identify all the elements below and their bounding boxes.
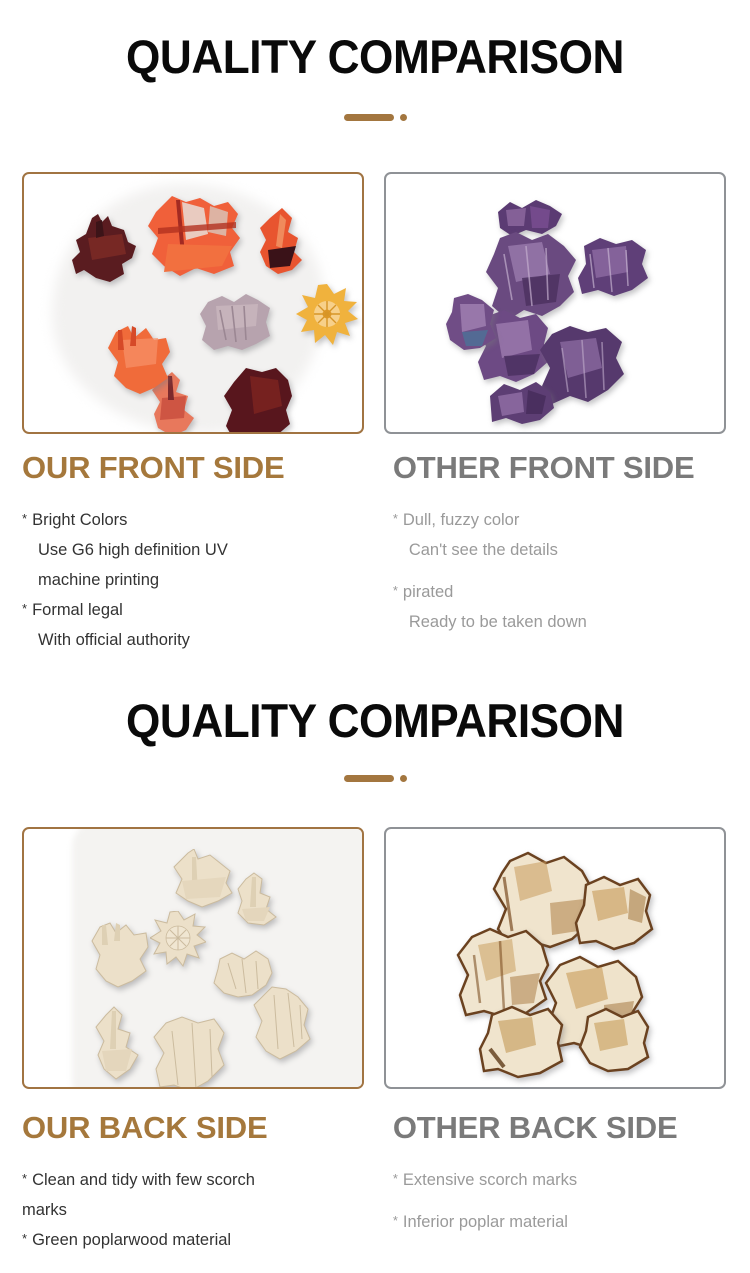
page-title-2: QUALITY COMPARISON — [23, 697, 728, 744]
puzzle-piece-purple-7 — [442, 292, 500, 354]
puzzle-piece-tall-ship — [142, 194, 250, 286]
puzzle-piece-dark-whale — [220, 366, 298, 432]
puzzle-piece-ships-wheel — [296, 284, 358, 346]
title-divider-1 — [0, 114, 750, 121]
puzzle-piece-scorched-6 — [576, 1007, 652, 1073]
our-back-caption: OUR BACK SIDE *Clean and tidy with few s… — [22, 1112, 375, 1255]
bullet-text: Bright Colors — [32, 511, 127, 529]
our-back-heading: OUR BACK SIDE — [22, 1112, 375, 1145]
bullet-text: Green poplarwood material — [32, 1231, 231, 1249]
spacer — [393, 1195, 728, 1207]
puzzle-piece-wood-wave — [152, 1015, 228, 1087]
bullet-subtext: marks — [22, 1195, 375, 1225]
bullet-star-icon: * — [393, 1167, 398, 1191]
comparison-images-1 — [0, 172, 750, 434]
list-item: *Extensive scorch marks — [393, 1165, 728, 1195]
divider-dot-icon — [400, 114, 407, 121]
other-back-image-frame — [384, 827, 726, 1089]
bullet-text: Dull, fuzzy color — [403, 511, 519, 529]
page-title: QUALITY COMPARISON — [23, 33, 728, 80]
bullet-text: Inferior poplar material — [403, 1213, 568, 1231]
list-item: *pirated Ready to be taken down — [393, 565, 728, 637]
bullet-text: Clean and tidy with few scorch — [32, 1171, 255, 1189]
divider — [0, 114, 750, 121]
list-item: *Bright Colors Use G6 high definition UV… — [22, 505, 375, 595]
bullet-star-icon: * — [393, 1209, 398, 1233]
our-back-photo — [24, 829, 362, 1087]
other-front-heading: OTHER FRONT SIDE — [393, 452, 728, 485]
list-item: *Dull, fuzzy color Can't see the details — [393, 505, 728, 565]
bullet-subtext: With official authority — [22, 625, 375, 655]
puzzle-piece-purple-6 — [484, 380, 556, 426]
title-divider-2 — [0, 775, 750, 782]
bullet-star-icon: * — [22, 597, 27, 621]
other-front-photo — [386, 174, 724, 432]
our-front-photo — [24, 174, 362, 432]
quality-comparison-infographic: QUALITY COMPARISON — [0, 0, 750, 1273]
bullet-star-icon: * — [393, 579, 398, 603]
our-back-image-frame — [22, 827, 364, 1089]
divider — [0, 775, 750, 782]
puzzle-piece-sailboat — [252, 206, 308, 278]
other-back-caption: OTHER BACK SIDE *Extensive scorch marks … — [375, 1112, 728, 1255]
comparison-images-2 — [0, 827, 750, 1089]
comparison-captions-1: OUR FRONT SIDE *Bright Colors Use G6 hig… — [0, 452, 750, 655]
our-back-bullets: *Clean and tidy with few scorch marks *G… — [22, 1165, 375, 1255]
puzzle-piece-wood-boat — [92, 1005, 152, 1083]
puzzle-piece-galleon — [66, 212, 144, 290]
bullet-star-icon: * — [22, 1167, 27, 1191]
puzzle-piece-coral — [104, 324, 176, 398]
other-back-bullets: *Extensive scorch marks *Inferior poplar… — [393, 1165, 728, 1237]
spacer — [393, 565, 728, 577]
list-item: *Green poplarwood material — [22, 1225, 375, 1255]
bullet-subtext: Use G6 high definition UV — [22, 535, 375, 565]
our-front-image-frame — [22, 172, 364, 434]
puzzle-piece-purple-3 — [574, 236, 652, 300]
divider-dot-icon — [400, 775, 407, 782]
puzzle-piece-scorched-2 — [572, 875, 656, 951]
list-item: *Inferior poplar material — [393, 1195, 728, 1237]
other-front-bullets: *Dull, fuzzy color Can't see the details… — [393, 505, 728, 637]
bullet-text: Formal legal — [32, 601, 123, 619]
other-front-caption: OTHER FRONT SIDE *Dull, fuzzy color Can'… — [375, 452, 728, 655]
bullet-subtext: Can't see the details — [393, 535, 728, 565]
puzzle-piece-whale — [196, 292, 274, 354]
bullet-text: Extensive scorch marks — [403, 1171, 577, 1189]
other-back-photo — [386, 829, 724, 1087]
comparison-captions-2: OUR BACK SIDE *Clean and tidy with few s… — [0, 1112, 750, 1255]
puzzle-piece-wood-wheel — [150, 911, 206, 967]
bullet-star-icon: * — [22, 1227, 27, 1251]
bullet-subtext: machine printing — [22, 565, 375, 595]
section-title-1: QUALITY COMPARISON — [0, 33, 750, 80]
divider-bar-icon — [344, 114, 394, 121]
other-back-heading: OTHER BACK SIDE — [393, 1112, 728, 1145]
puzzle-piece-scorched-5 — [478, 1005, 566, 1079]
puzzle-piece-wood-leaf — [250, 985, 314, 1061]
our-front-heading: OUR FRONT SIDE — [22, 452, 375, 485]
list-item: *Clean and tidy with few scorch marks — [22, 1165, 375, 1225]
our-front-bullets: *Bright Colors Use G6 high definition UV… — [22, 505, 375, 655]
list-item: *Formal legal With official authority — [22, 595, 375, 655]
puzzle-piece-wood-coral — [90, 921, 152, 989]
puzzle-piece-wood-ship — [170, 849, 236, 909]
bullet-star-icon: * — [393, 507, 398, 531]
section-title-2: QUALITY COMPARISON — [0, 697, 750, 744]
bullet-subtext: Ready to be taken down — [393, 607, 728, 637]
divider-bar-icon — [344, 775, 394, 782]
other-front-image-frame — [384, 172, 726, 434]
our-front-caption: OUR FRONT SIDE *Bright Colors Use G6 hig… — [22, 452, 375, 655]
bullet-text: pirated — [403, 583, 453, 601]
puzzle-piece-wood-sailboat — [232, 871, 282, 929]
bullet-star-icon: * — [22, 507, 27, 531]
